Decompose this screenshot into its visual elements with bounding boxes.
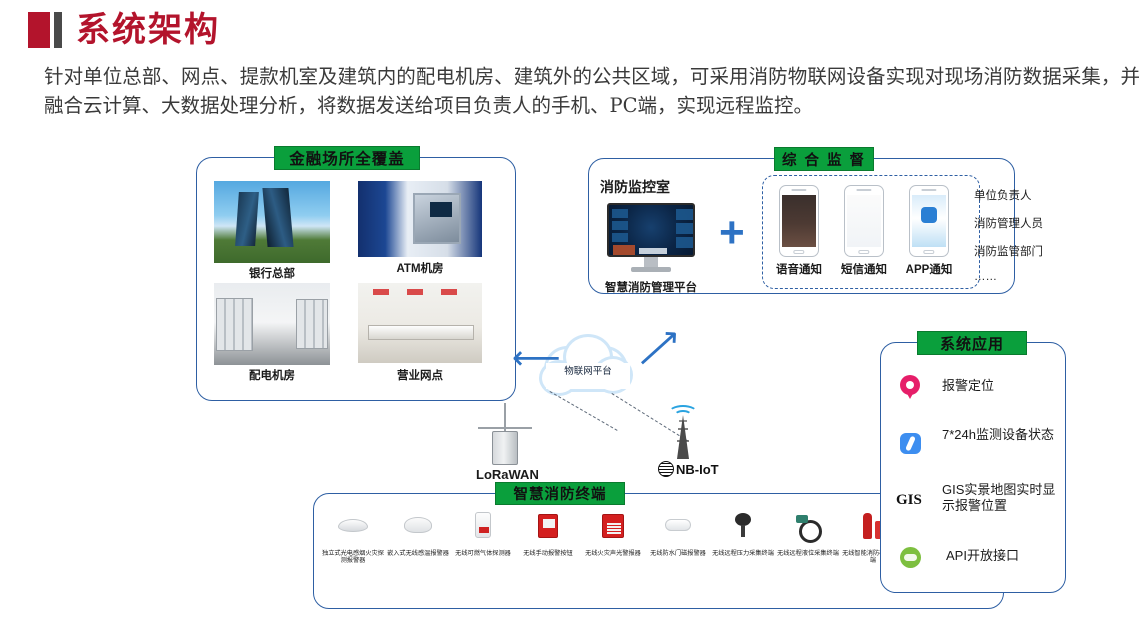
phone-home-icon bbox=[793, 250, 804, 254]
device-caption-2: 无线可燃气体探测器 bbox=[452, 551, 514, 558]
device-caption-4: 无线火灾声光警报器 bbox=[582, 551, 644, 558]
device-status-thermometer-icon bbox=[900, 433, 921, 454]
smoke-detector-icon bbox=[338, 519, 368, 532]
recipient-manager: 消防管理人员 bbox=[974, 215, 1043, 231]
device-5: 无线防水门磁报警器 bbox=[647, 507, 709, 603]
monitor-stand bbox=[644, 257, 658, 267]
venue-caption-power: 配电机房 bbox=[214, 367, 330, 383]
application-label-device-status: 7*24h监测设备状态 bbox=[942, 427, 1054, 443]
device-caption-6: 无线远程压力采集终端 bbox=[712, 551, 774, 558]
device-caption-7: 无线远程液位采集终端 bbox=[777, 551, 839, 558]
bank-headquarters-photo bbox=[214, 181, 330, 263]
voice-call-phone bbox=[779, 185, 819, 257]
device-caption-0: 独立式光电感烟火灾探测报警器 bbox=[322, 551, 384, 565]
sound-light-alarm-icon bbox=[602, 514, 624, 538]
page-header: 系统架构 bbox=[0, 0, 1148, 58]
nbiot-globe-icon bbox=[658, 461, 674, 477]
notification-caption-sms: 短信通知 bbox=[834, 261, 894, 277]
intro-paragraph: 针对单位总部、网点、提款机室及建筑内的配电机房、建筑外的公共区域，可采用消防物联… bbox=[44, 62, 1140, 120]
application-label-gis: GIS实景地图实时显示报警位置 bbox=[942, 482, 1058, 513]
nbiot-label: NB-IoT bbox=[676, 462, 719, 477]
recipient-authority: 消防监管部门 bbox=[974, 243, 1043, 259]
device-caption-5: 无线防水门磁报警器 bbox=[647, 551, 709, 558]
venue-caption-branch: 营业网点 bbox=[358, 367, 482, 383]
sms-phone bbox=[844, 185, 884, 257]
device-0: 独立式光电感烟火灾探测报警器 bbox=[322, 507, 384, 603]
alarm-location-pin-icon bbox=[900, 375, 920, 399]
recipient-ellipsis: …… bbox=[974, 271, 997, 283]
applications-tag: 系统应用 bbox=[917, 331, 1027, 355]
device-4: 无线火灾声光警报器 bbox=[582, 507, 644, 603]
phone-notch-icon bbox=[791, 189, 806, 191]
page-title: 系统架构 bbox=[76, 8, 220, 52]
terminals-tag: 智慧消防终端 bbox=[495, 482, 625, 505]
device-6: 无线远程压力采集终端 bbox=[712, 507, 774, 603]
venue-caption-atm: ATM机房 bbox=[358, 260, 482, 276]
lorawan-label: LoRaWAN bbox=[476, 467, 539, 482]
cloud-gateway-link bbox=[550, 391, 618, 431]
device-1: 嵌入式无线感温报警器 bbox=[387, 507, 449, 603]
power-distribution-room-photo bbox=[214, 283, 330, 365]
voice-phone-screen bbox=[782, 195, 816, 247]
phone-notch-icon bbox=[921, 189, 936, 191]
phone-home-icon bbox=[858, 250, 869, 254]
gateway-antenna-right bbox=[506, 427, 532, 429]
application-row-api: API开放接口 bbox=[900, 545, 1056, 575]
platform-caption: 智慧消防管理平台 bbox=[592, 279, 710, 295]
phone-notch-icon bbox=[856, 189, 871, 191]
device-7: 无线远程液位采集终端 bbox=[777, 507, 839, 603]
sms-phone-screen bbox=[847, 195, 881, 247]
application-label-alarm-location: 报警定位 bbox=[942, 378, 1054, 394]
venues-tag: 金融场所全覆盖 bbox=[274, 146, 420, 170]
recipient-owner: 单位负责人 bbox=[974, 187, 1032, 203]
api-cloud-icon bbox=[900, 547, 921, 568]
lorawan-gateway-body bbox=[492, 431, 518, 465]
monitor-base bbox=[631, 267, 671, 272]
application-row-alarm-location: 报警定位 bbox=[900, 375, 1056, 409]
bank-branch-photo bbox=[358, 283, 482, 363]
gis-text-icon: GIS bbox=[896, 492, 922, 509]
plus-icon: + bbox=[719, 211, 745, 255]
device-caption-1: 嵌入式无线感温报警器 bbox=[387, 551, 449, 558]
phone-home-icon bbox=[923, 250, 934, 254]
application-label-api: API开放接口 bbox=[946, 548, 1058, 564]
supervision-tag: 综 合 监 督 bbox=[774, 147, 874, 171]
venue-caption-bank: 银行总部 bbox=[214, 265, 330, 281]
monitoring-room-label: 消防监控室 bbox=[600, 177, 720, 197]
app-phone bbox=[909, 185, 949, 257]
nbiot-tower-icon bbox=[669, 415, 697, 459]
gateway-antenna-left bbox=[478, 427, 504, 429]
app-phone-screen bbox=[912, 195, 946, 247]
notification-caption-app: APP通知 bbox=[899, 261, 959, 277]
notification-caption-voice: 语音通知 bbox=[769, 261, 829, 277]
device-2: 无线可燃气体探测器 bbox=[452, 507, 514, 603]
temperature-alarm-icon bbox=[404, 517, 432, 533]
device-caption-3: 无线手动报警按钮 bbox=[517, 551, 579, 558]
pressure-sensor-icon bbox=[732, 513, 754, 537]
level-sensor-icon bbox=[795, 515, 821, 537]
cloud-label: 物联网平台 bbox=[542, 363, 634, 377]
manual-call-point-icon bbox=[538, 514, 558, 538]
device-3: 无线手动报警按钮 bbox=[517, 507, 579, 603]
header-gray-block bbox=[54, 12, 62, 48]
platform-monitor-screen bbox=[607, 203, 695, 257]
door-magnet-icon bbox=[665, 519, 691, 531]
application-row-gis: GIS GIS实景地图实时显示报警位置 bbox=[896, 482, 1058, 524]
application-row-device-status: 7*24h监测设备状态 bbox=[900, 427, 1056, 467]
architecture-diagram: 金融场所全覆盖 银行总部 ATM机房 配电机房 营业网点 综 合 监 督 消防监… bbox=[182, 127, 1148, 618]
header-red-block bbox=[28, 12, 50, 48]
app-launcher-icon bbox=[921, 207, 937, 223]
gas-detector-icon bbox=[475, 512, 491, 538]
arrow-to-supervision-icon: ⟶ bbox=[629, 319, 688, 377]
atm-room-photo bbox=[358, 181, 482, 257]
